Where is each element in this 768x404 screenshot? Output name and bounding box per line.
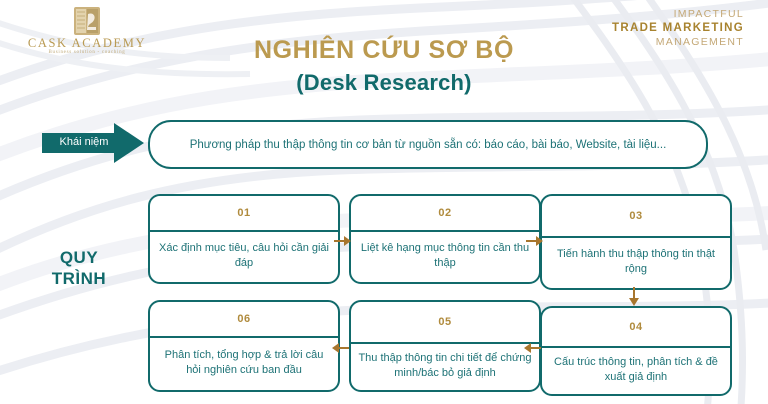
step-box-05[interactable]: 05 Thu thập thông tin chi tiết để chứng … [349, 300, 541, 392]
step-text-05: Thu thập thông tin chi tiết để chứng min… [358, 351, 532, 381]
page-title: NGHIÊN CỨU SƠ BỘ [0, 36, 768, 65]
step-text-04: Cấu trúc thông tin, phân tích & đề xuất … [549, 355, 723, 385]
concept-tag-label: Khái niệm [42, 136, 126, 148]
step-box-02[interactable]: 02 Liệt kê hạng mục thông tin cần thu th… [349, 194, 541, 284]
page-subtitle: (Desk Research) [0, 70, 768, 96]
step-number-04: 04 [542, 308, 730, 346]
step-box-01[interactable]: 01 Xác định mục tiêu, câu hỏi cần giải đ… [148, 194, 340, 284]
process-label: QUY TRÌNH [24, 248, 134, 289]
step-number-01: 01 [150, 196, 338, 230]
brand-line-impactful: IMPACTFUL [612, 8, 744, 21]
step-number-02: 02 [351, 196, 539, 230]
step-number-05: 05 [351, 302, 539, 342]
step-box-04[interactable]: 04 Cấu trúc thông tin, phân tích & đề xu… [540, 306, 732, 396]
step-text-03: Tiến hành thu thập thông tin thật rộng [549, 247, 723, 277]
concept-text: Phương pháp thu thập thông tin cơ bản từ… [190, 139, 667, 151]
process-label-line2: TRÌNH [24, 269, 134, 290]
concept-box: Phương pháp thu thập thông tin cơ bản từ… [148, 120, 708, 169]
connector-04-to-05 [523, 341, 541, 355]
connector-02-to-03 [526, 234, 544, 248]
brand-line-trade-marketing: TRADE MARKETING [612, 21, 744, 36]
step-box-03[interactable]: 03 Tiến hành thu thập thông tin thật rộn… [540, 194, 732, 290]
slide-canvas: CASK ACADEMY Business solution - coachin… [0, 0, 768, 404]
step-number-06: 06 [150, 302, 338, 336]
step-text-02: Liệt kê hạng mục thông tin cần thu thập [358, 241, 532, 271]
step-text-01: Xác định mục tiêu, câu hỏi cần giải đáp [157, 241, 331, 271]
connector-03-to-04 [627, 287, 641, 307]
connector-05-to-06 [331, 341, 349, 355]
book-logo-icon [70, 6, 104, 36]
step-box-06[interactable]: 06 Phân tích, tổng hợp & trả lời câu hỏi… [148, 300, 340, 392]
step-number-03: 03 [542, 196, 730, 236]
connector-01-to-02 [334, 234, 352, 248]
step-text-06: Phân tích, tổng hợp & trả lời câu hỏi ng… [157, 348, 331, 378]
concept-tag-arrow: Khái niệm [42, 123, 146, 163]
process-label-line1: QUY [24, 248, 134, 269]
